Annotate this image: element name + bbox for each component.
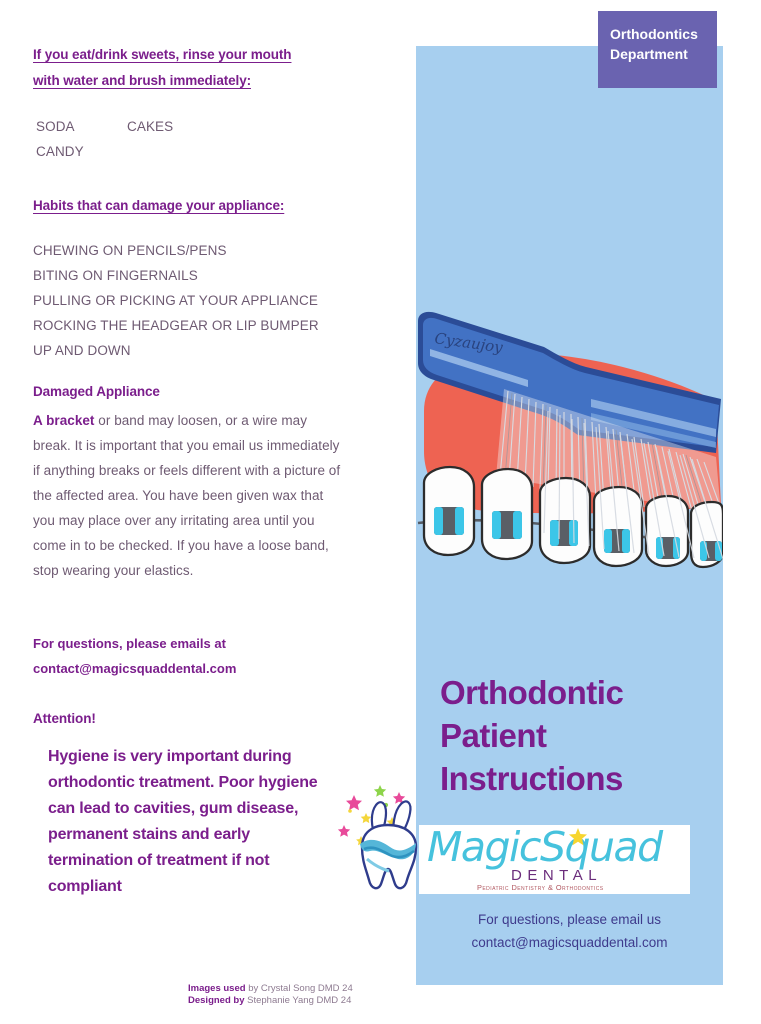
- sweets-list-row1: SODACAKES: [36, 114, 173, 139]
- sweets-heading-line2: with water and brush immediately:: [33, 68, 373, 94]
- magic-tooth-mascot-icon: [336, 781, 442, 893]
- credits-images-label: Images used: [188, 983, 246, 994]
- sweets-heading: If you eat/drink sweets, rinse your mout…: [33, 42, 373, 94]
- badge-line1: Orthodontics: [610, 24, 717, 44]
- bracket-wing-3a: [550, 520, 559, 546]
- bracket-wing-1a: [434, 507, 443, 535]
- logo-star-icon: [567, 827, 589, 849]
- panel-contact-line1: For questions, please email us: [416, 908, 723, 931]
- attention-heading: Attention!: [33, 711, 96, 726]
- sweets-item-soda: SODA: [36, 114, 127, 139]
- right-cover-panel: Cyzaujoy: [416, 46, 723, 985]
- logo-wordmark: MagicSquad: [427, 825, 662, 871]
- questions-line1: For questions, please emails at: [33, 631, 373, 656]
- bracket-wing-5a: [656, 537, 663, 559]
- sweets-list: SODACAKES CANDY: [36, 114, 173, 164]
- panel-title-line1: Orthodontic: [440, 671, 720, 714]
- credits-images-value: by Crystal Song DMD 24: [246, 983, 353, 994]
- sweets-item-candy: CANDY: [36, 139, 173, 164]
- credits-block: Images used by Crystal Song DMD 24 Desig…: [188, 983, 388, 1007]
- habits-item-1: CHEWING ON PENCILS/PENS: [33, 238, 393, 263]
- damaged-appliance-body: or band may loosen, or a wire may break.…: [33, 413, 340, 578]
- habits-item-5: UP AND DOWN: [33, 338, 393, 363]
- panel-title-line3: Instructions: [440, 757, 720, 800]
- habits-item-3: PULLING OR PICKING AT YOUR APPLIANCE: [33, 288, 393, 313]
- bracket-wing-4b: [622, 529, 630, 553]
- bracket-wing-6a: [700, 541, 707, 561]
- damaged-appliance-heading: Damaged Appliance: [33, 384, 160, 399]
- sweets-item-cakes: CAKES: [127, 119, 173, 134]
- panel-contact-block: For questions, please email us contact@m…: [416, 908, 723, 954]
- panel-contact-email[interactable]: contact@magicsquaddental.com: [416, 931, 723, 954]
- hygiene-notice: Hygiene is very important during orthodo…: [48, 744, 323, 900]
- habits-heading: Habits that can damage your appliance:: [33, 193, 373, 219]
- bracket-wing-1b: [455, 507, 464, 535]
- logo-subtitle: DENTAL: [511, 867, 602, 884]
- habits-item-2: BITING ON FINGERNAILS: [33, 263, 393, 288]
- bracket-wing-4a: [604, 529, 612, 553]
- toothbrush-braces-illustration: Cyzaujoy: [416, 301, 723, 593]
- sweets-heading-line1: If you eat/drink sweets, rinse your mout…: [33, 42, 373, 68]
- bracket-wing-2a: [492, 511, 501, 539]
- panel-title-line2: Patient: [440, 714, 720, 757]
- habits-item-4: ROCKING THE HEADGEAR OR LIP BUMPER: [33, 313, 393, 338]
- badge-line2: Department: [610, 44, 717, 64]
- panel-title: Orthodontic Patient Instructions: [440, 671, 720, 800]
- damaged-appliance-lead: A bracket: [33, 413, 94, 428]
- logo-tagline: Pediatric Dentistry & Orthodontics: [477, 883, 604, 892]
- credits-designed-value: Stephanie Yang DMD 24: [245, 995, 352, 1006]
- credits-images: Images used by Crystal Song DMD 24: [188, 983, 388, 995]
- orthodontics-department-badge: Orthodontics Department: [598, 11, 717, 88]
- credits-designed: Designed by Stephanie Yang DMD 24: [188, 995, 388, 1007]
- bracket-wing-2b: [513, 511, 522, 539]
- questions-contact-block: For questions, please emails at contact@…: [33, 631, 373, 681]
- questions-email[interactable]: contact@magicsquaddental.com: [33, 656, 373, 681]
- credits-designed-label: Designed by: [188, 995, 245, 1006]
- magicsquad-logo-card: MagicSquad DENTAL Pediatric Dentistry & …: [419, 825, 690, 894]
- damaged-appliance-paragraph: A bracket or band may loosen, or a wire …: [33, 408, 348, 583]
- habits-list: CHEWING ON PENCILS/PENS BITING ON FINGER…: [33, 238, 393, 363]
